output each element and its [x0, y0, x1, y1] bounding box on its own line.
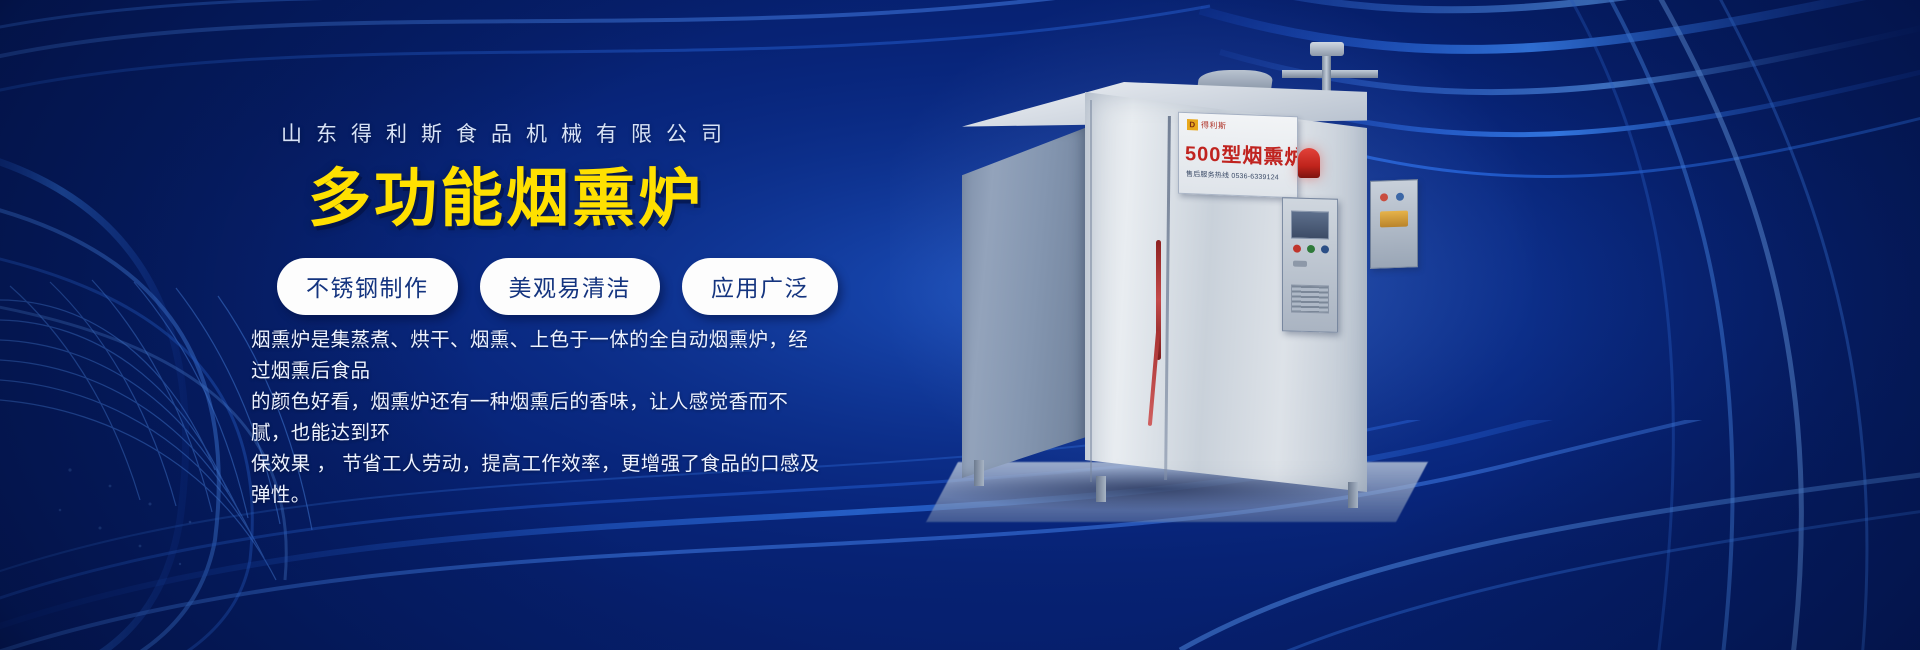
promo-banner: D 得利斯 500型烟熏炉 售后服务热线 0536-6339124 山东得利斯食…: [0, 0, 1920, 650]
control-panel: [1282, 197, 1338, 333]
cabinet-leg-front-left: [1096, 476, 1106, 502]
feature-pill-wide-use[interactable]: 应用广泛: [682, 258, 838, 315]
feature-pill-stainless-steel[interactable]: 不锈钢制作: [277, 258, 458, 315]
panel-vent-grill: [1291, 284, 1329, 313]
banner-content: 山东得利斯食品机械有限公司 多功能烟熏炉 不锈钢制作 美观易清洁 应用广泛 烟熏…: [0, 0, 900, 650]
product-photo: D 得利斯 500型烟熏炉 售后服务热线 0536-6339124: [930, 30, 1550, 530]
brand-logo: D 得利斯: [1187, 119, 1227, 132]
panel-button-green: [1307, 245, 1315, 253]
page-title: 多功能烟熏炉: [308, 165, 704, 233]
panel-display: [1291, 210, 1329, 239]
description-line-3: 保效果 ， 节省工人劳动，提高工作效率，更增强了食品的口感及弹性。: [251, 449, 821, 511]
alarm-light-icon: [1298, 148, 1320, 178]
junction-box: [1370, 179, 1418, 269]
junction-indicator-red: [1380, 193, 1388, 201]
cabinet-leg-rear: [974, 460, 984, 486]
brand-mark-icon: D: [1187, 119, 1198, 130]
feature-pill-easy-clean[interactable]: 美观易清洁: [480, 258, 661, 315]
brand-logo-text: 得利斯: [1201, 120, 1227, 132]
panel-button-red: [1293, 245, 1301, 253]
panel-switch: [1293, 261, 1307, 267]
cabinet-leg-front-right: [1348, 482, 1358, 508]
valve-icon: [1310, 42, 1344, 56]
service-hotline: 售后服务热线 0536-6339124: [1186, 169, 1279, 183]
feature-pill-list: 不锈钢制作 美观易清洁 应用广泛: [277, 258, 838, 315]
junction-indicator-blue: [1396, 193, 1404, 201]
company-name: 山东得利斯食品机械有限公司: [281, 118, 736, 148]
product-description: 烟熏炉是集蒸煮、烘干、烟熏、上色于一体的全自动烟熏炉，经过烟熏后食品 的颜色好看…: [251, 325, 821, 511]
junction-label: [1380, 211, 1408, 228]
door-edge-left: [1090, 100, 1092, 482]
product-model-title: 500型烟熏炉: [1185, 137, 1298, 171]
name-plate: D 得利斯 500型烟熏炉 售后服务热线 0536-6339124: [1178, 112, 1298, 199]
cabinet-side: [962, 126, 1090, 478]
description-line-1: 烟熏炉是集蒸煮、烘干、烟熏、上色于一体的全自动烟熏炉，经过烟熏后食品: [251, 325, 821, 387]
description-line-2: 的颜色好看，烟熏炉还有一种烟熏后的香味，让人感觉香而不腻，也能达到环: [251, 387, 821, 449]
panel-button-blue: [1321, 245, 1329, 253]
